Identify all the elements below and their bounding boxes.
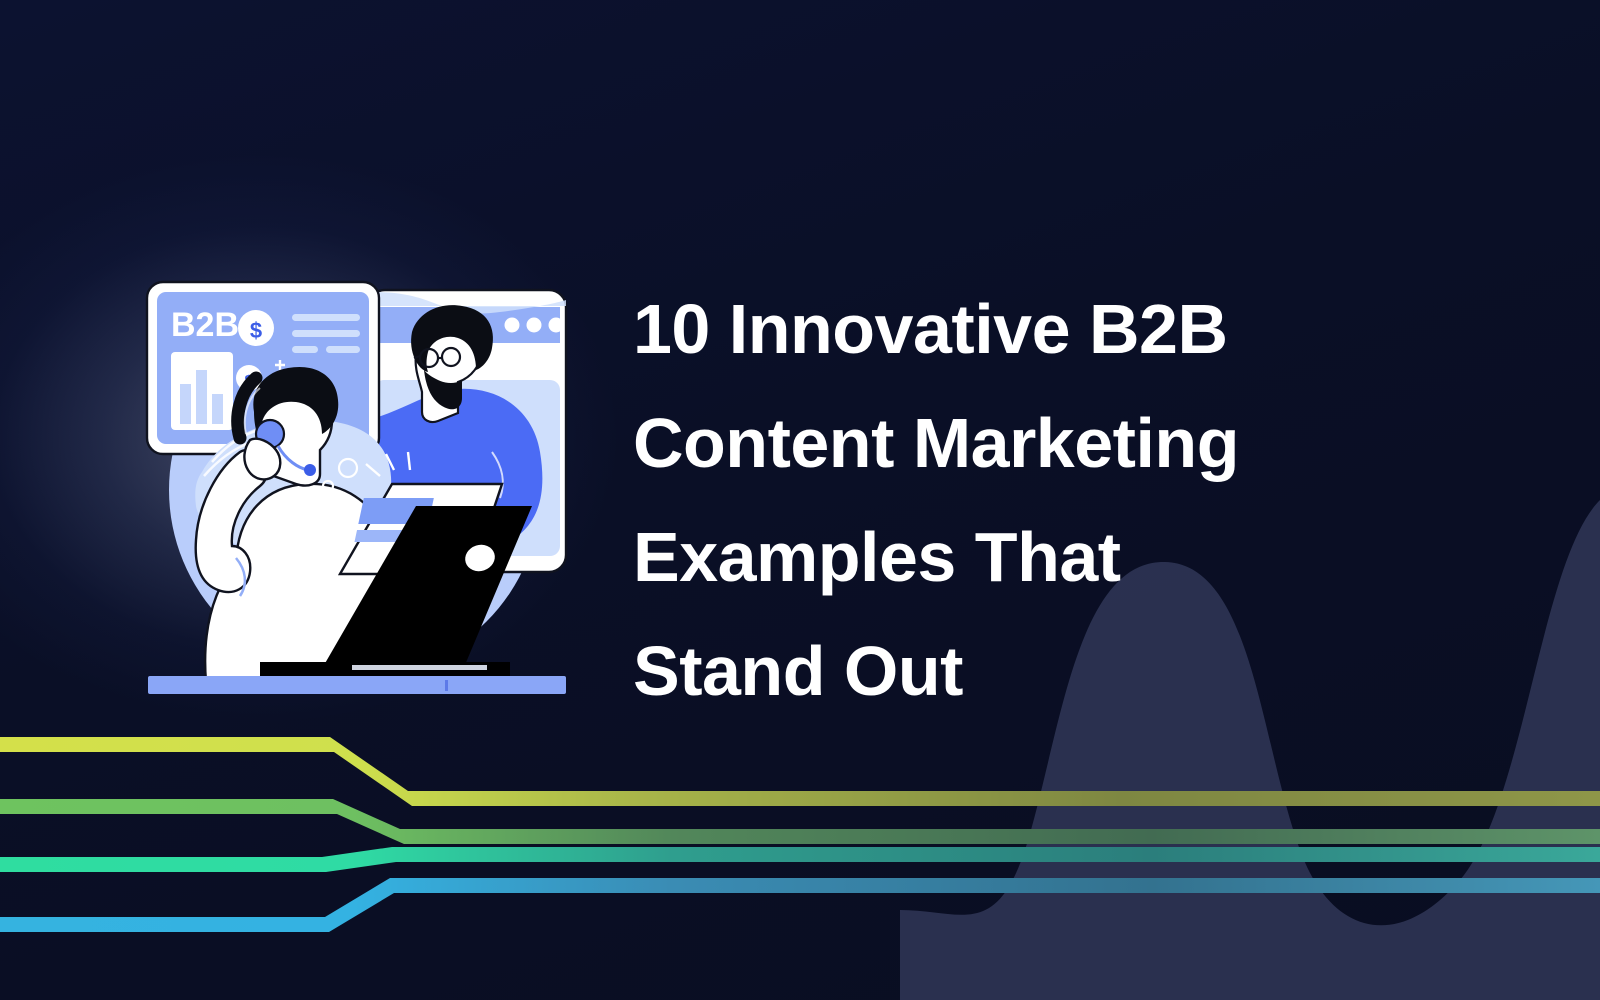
svg-text:$: $ [250, 318, 262, 343]
coin-badge-large: $ [238, 310, 274, 346]
window-dot [549, 318, 564, 333]
window-dot [505, 318, 520, 333]
dashboard-label: B2B [171, 306, 239, 344]
hero-banner: B2B $ $ [0, 0, 1600, 1000]
page-title: 10 Innovative B2B Content Marketing Exam… [633, 272, 1433, 728]
desk-bar [148, 676, 566, 694]
window-dot [527, 318, 542, 333]
b2b-sales-team-illustration: B2B $ $ [140, 262, 580, 694]
